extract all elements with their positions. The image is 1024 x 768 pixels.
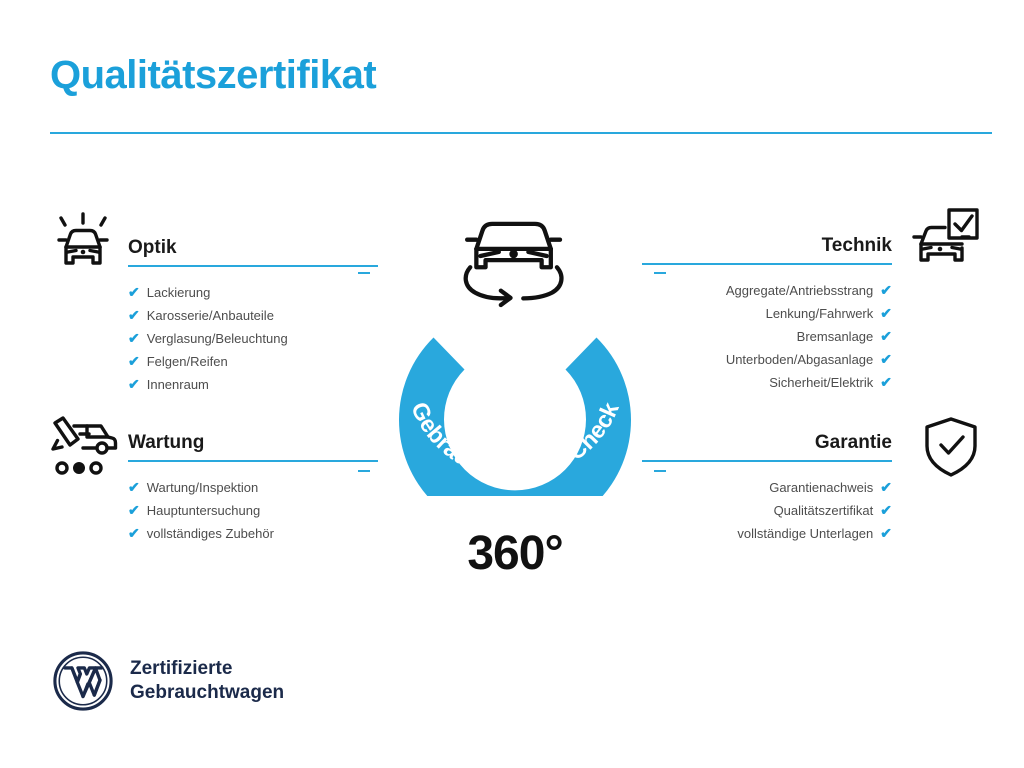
list-item: Sicherheit/Elektrik✔ bbox=[642, 371, 892, 394]
list-item: ✔Innenraum bbox=[128, 373, 378, 396]
check-icon: ✔ bbox=[880, 306, 892, 320]
section-optik-heading: Optik bbox=[128, 238, 378, 265]
tick-mark-left-bottom bbox=[358, 470, 370, 472]
footer-line-1: Zertifizierte bbox=[130, 657, 284, 681]
list-item-label: Aggregate/Antriebsstrang bbox=[726, 279, 873, 302]
check-icon: ✔ bbox=[128, 354, 140, 368]
section-wartung-list: ✔Wartung/Inspektion ✔Hauptuntersuchung ✔… bbox=[128, 462, 378, 545]
check-icon: ✔ bbox=[880, 526, 892, 540]
list-item: Lenkung/Fahrwerk✔ bbox=[642, 302, 892, 325]
car-front-lights-icon bbox=[44, 208, 122, 278]
list-item: Aggregate/Antriebsstrang✔ bbox=[642, 279, 892, 302]
footer-brand-text: Zertifizierte Gebrauchtwagen bbox=[130, 657, 284, 706]
check-icon: ✔ bbox=[880, 352, 892, 366]
list-item-label: Hauptuntersuchung bbox=[147, 499, 260, 522]
list-item: ✔Felgen/Reifen bbox=[128, 350, 378, 373]
shield-check-icon bbox=[912, 412, 990, 482]
list-item-label: Bremsanlage bbox=[797, 325, 874, 348]
check-icon: ✔ bbox=[128, 308, 140, 322]
section-technik-heading: Technik bbox=[642, 236, 892, 263]
section-optik: Optik ✔Lackierung ✔Karosserie/Anbauteile… bbox=[128, 238, 378, 396]
list-item-label: Unterboden/Abgasanlage bbox=[726, 348, 873, 371]
list-item-label: vollständiges Zubehör bbox=[147, 522, 274, 545]
section-technik-list: Aggregate/Antriebsstrang✔ Lenkung/Fahrwe… bbox=[642, 265, 892, 394]
check-icon: ✔ bbox=[880, 480, 892, 494]
tick-mark-left-top bbox=[358, 272, 370, 274]
section-garantie: Garantie Garantienachweis✔ Qualitätszert… bbox=[642, 433, 892, 545]
check-icon: ✔ bbox=[880, 503, 892, 517]
pen-car-service-icon bbox=[44, 412, 122, 482]
certificate-page: Qualitätszertifikat Optik ✔Lackierung bbox=[0, 0, 1024, 768]
section-garantie-heading: Garantie bbox=[642, 433, 892, 460]
check-icon: ✔ bbox=[128, 503, 140, 517]
list-item-label: Felgen/Reifen bbox=[147, 350, 228, 373]
list-item-label: Lackierung bbox=[147, 281, 211, 304]
list-item: Unterboden/Abgasanlage✔ bbox=[642, 348, 892, 371]
check-icon: ✔ bbox=[128, 480, 140, 494]
page-title: Qualitätszertifikat bbox=[50, 52, 376, 98]
section-wartung-heading: Wartung bbox=[128, 433, 378, 460]
list-item-label: vollständige Unterlagen bbox=[737, 522, 873, 545]
check-icon: ✔ bbox=[880, 375, 892, 389]
list-item-label: Karosserie/Anbauteile bbox=[147, 304, 274, 327]
vw-logo bbox=[52, 650, 114, 712]
footer-line-2: Gebrauchtwagen bbox=[130, 681, 284, 705]
check-icon: ✔ bbox=[128, 331, 140, 345]
list-item-label: Innenraum bbox=[147, 373, 209, 396]
list-item: Qualitätszertifikat✔ bbox=[642, 499, 892, 522]
section-wartung: Wartung ✔Wartung/Inspektion ✔Hauptunters… bbox=[128, 433, 378, 545]
footer-brand: Zertifizierte Gebrauchtwagen bbox=[52, 650, 284, 712]
list-item-label: Wartung/Inspektion bbox=[147, 476, 259, 499]
title-divider bbox=[50, 132, 992, 134]
check-icon: ✔ bbox=[128, 377, 140, 391]
car-front-checkbox-icon bbox=[905, 204, 983, 274]
badge-360-check: Gebrauchtwagen-Check 360° bbox=[374, 196, 656, 496]
car-front-rotate-icon bbox=[466, 224, 562, 305]
list-item: ✔Verglasung/Beleuchtung bbox=[128, 327, 378, 350]
check-icon: ✔ bbox=[128, 526, 140, 540]
badge-number: 360° bbox=[374, 526, 656, 581]
list-item: ✔Hauptuntersuchung bbox=[128, 499, 378, 522]
list-item-label: Lenkung/Fahrwerk bbox=[766, 302, 874, 325]
list-item: ✔Lackierung bbox=[128, 281, 378, 304]
list-item: Bremsanlage✔ bbox=[642, 325, 892, 348]
list-item: ✔vollständiges Zubehör bbox=[128, 522, 378, 545]
list-item-label: Verglasung/Beleuchtung bbox=[147, 327, 288, 350]
list-item: ✔Karosserie/Anbauteile bbox=[128, 304, 378, 327]
check-icon: ✔ bbox=[128, 285, 140, 299]
list-item-label: Qualitätszertifikat bbox=[774, 499, 874, 522]
list-item-label: Garantienachweis bbox=[769, 476, 873, 499]
check-icon: ✔ bbox=[880, 283, 892, 297]
section-garantie-list: Garantienachweis✔ Qualitätszertifikat✔ v… bbox=[642, 462, 892, 545]
list-item: ✔Wartung/Inspektion bbox=[128, 476, 378, 499]
list-item-label: Sicherheit/Elektrik bbox=[769, 371, 873, 394]
section-technik: Technik Aggregate/Antriebsstrang✔ Lenkun… bbox=[642, 236, 892, 394]
list-item: vollständige Unterlagen✔ bbox=[642, 522, 892, 545]
list-item: Garantienachweis✔ bbox=[642, 476, 892, 499]
section-optik-list: ✔Lackierung ✔Karosserie/Anbauteile ✔Verg… bbox=[128, 267, 378, 396]
check-icon: ✔ bbox=[880, 329, 892, 343]
